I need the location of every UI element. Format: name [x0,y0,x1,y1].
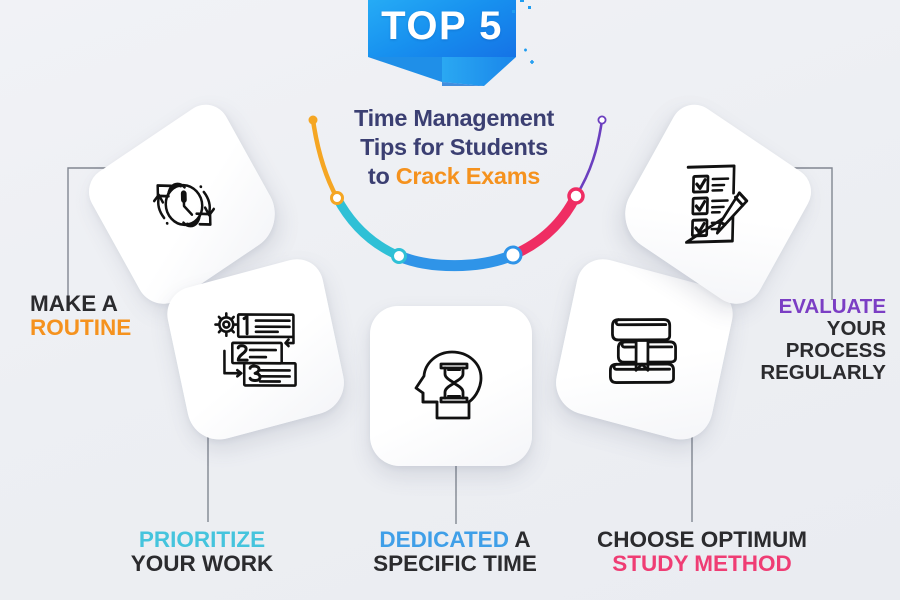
arc-node-purple-end [598,116,605,123]
tip-card-prioritize-glyph [177,271,335,430]
sparkle-cross [530,60,534,64]
clock-in-hands-icon [142,162,226,248]
arc-segment-blue [399,255,513,266]
label-evaluate-line-2: YOUR [716,318,886,340]
tip-card-prioritize[interactable] [162,253,349,447]
arc-segment-orange [313,120,337,198]
arc-node-2 [393,250,406,263]
label-evaluate: EVALUATE YOUR PROCESS REGULARLY [716,296,886,385]
checklist-with-pencil-icon [679,161,754,249]
label-dedicated-line-1-suffix: A [509,527,531,552]
top5-banner: TOP 5 [362,0,538,86]
label-evaluate-line-3: PROCESS [716,340,886,362]
tip-card-dedicated[interactable] [370,306,532,466]
stack-of-books-icon [602,311,685,388]
label-dedicated-accent: DEDICATED [379,527,509,552]
progress-arc [295,100,615,285]
label-choose: CHOOSE OPTIMUM STUDY METHOD [572,528,832,577]
label-routine: MAKE A ROUTINE [30,292,200,341]
label-prioritize: PRIORITIZE YOUR WORK [92,528,312,577]
tip-card-evaluate-glyph [637,125,794,286]
arc-segment-pink [513,196,576,255]
tip-card-routine-glyph [105,125,262,286]
label-dedicated-line-2: SPECIFIC TIME [340,552,570,576]
label-choose-line-1: CHOOSE OPTIMUM [572,528,832,552]
label-evaluate-line-4: REGULARLY [716,362,886,384]
arc-segment-purple [576,120,602,196]
arc-node-1 [332,193,343,204]
label-dedicated: DEDICATED A SPECIFIC TIME [340,528,570,577]
arc-node-3 [505,247,521,263]
label-evaluate-line-1: EVALUATE [716,296,886,318]
arc-node-orange-end [309,116,318,125]
numbered-priority-list-icon [210,310,301,389]
connector-dedicated [436,462,476,532]
infographic-canvas: TOP 5 Time Management Tips for Students … [0,0,900,600]
label-prioritize-line-2: YOUR WORK [92,552,312,576]
label-choose-line-2: STUDY METHOD [572,552,832,576]
tip-card-choose-glyph [565,271,723,430]
arc-node-4 [569,189,583,203]
banner-title: TOP 5 [362,0,522,52]
arc-segment-cyan [337,198,399,256]
sparkle-cross [524,49,527,52]
label-prioritize-line-1: PRIORITIZE [92,528,312,552]
head-with-hourglass-icon [411,346,491,426]
label-routine-line-2: ROUTINE [30,316,200,340]
sparkle-dot [528,6,531,9]
label-routine-line-1: MAKE A [30,292,200,316]
label-dedicated-line-1: DEDICATED A [340,528,570,552]
tip-card-dedicated-glyph [370,306,532,466]
